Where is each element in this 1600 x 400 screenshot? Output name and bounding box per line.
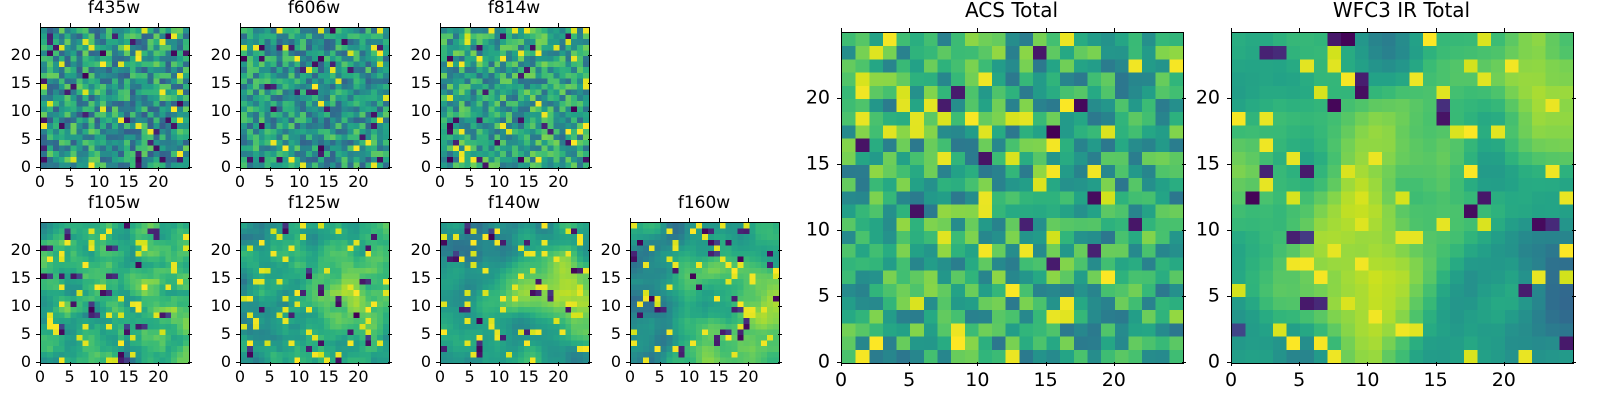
x-tick-top-wfc3-ir-total-10 [1367,28,1368,32]
x-tick-f606w-5 [270,167,271,171]
y-tick-right-f105w-5 [188,334,192,335]
y-tick-right-f125w-15 [388,278,392,279]
x-tick-f814w-15 [529,167,530,171]
x-ticklabel-f105w-20: 20 [148,369,168,385]
x-ticklabel-f814w-0: 0 [435,174,445,190]
x-tick-top-f160w-0 [630,218,631,222]
x-tick-top-wfc3-ir-total-15 [1436,28,1437,32]
panel-title-f606w: f606w [240,0,388,17]
x-tick-top-f105w-20 [158,218,159,222]
x-tick-f140w-0 [440,362,441,366]
x-tick-top-f105w-10 [99,218,100,222]
y-ticklabel-f435w-15: 15 [11,75,31,91]
x-ticklabel-f160w-5: 5 [655,369,665,385]
y-tick-right-f125w-0 [388,362,392,363]
x-tick-f606w-10 [299,167,300,171]
y-tick-f606w-10 [236,111,240,112]
x-ticklabel-f160w-15: 15 [709,369,729,385]
x-tick-f125w-10 [299,362,300,366]
y-tick-right-acs-total-15 [1182,164,1186,165]
y-tick-right-f814w-10 [588,111,592,112]
x-ticklabel-acs-total-20: 20 [1102,371,1126,390]
x-tick-top-wfc3-ir-total-20 [1504,28,1505,32]
y-tick-right-f435w-10 [188,111,192,112]
x-tick-f160w-5 [660,362,661,366]
y-tick-right-f814w-20 [588,55,592,56]
y-tick-f160w-15 [626,278,630,279]
x-ticklabel-f140w-5: 5 [465,369,475,385]
y-ticklabel-wfc3-ir-total-5: 5 [1208,287,1220,306]
x-tick-wfc3-ir-total-20 [1504,362,1505,366]
x-tick-f125w-15 [329,362,330,366]
y-tick-f125w-10 [236,306,240,307]
heatmap-image-f125w [241,223,389,363]
y-tick-right-wfc3-ir-total-0 [1572,362,1576,363]
x-tick-f606w-0 [240,167,241,171]
y-tick-right-f125w-20 [388,250,392,251]
x-ticklabel-f160w-20: 20 [738,369,758,385]
y-tick-f160w-20 [626,250,630,251]
panel-f125w: f125w0510152005101520 [240,195,388,400]
y-tick-f435w-20 [36,55,40,56]
y-tick-right-f160w-15 [778,278,782,279]
x-tick-top-f105w-5 [70,218,71,222]
y-ticklabel-f140w-20: 20 [411,242,431,258]
panel-f160w: f160w0510152005101520 [630,195,778,400]
x-tick-top-f125w-20 [358,218,359,222]
x-tick-f435w-0 [40,167,41,171]
heatmap-image-f435w [41,28,189,168]
y-tick-f125w-15 [236,278,240,279]
y-ticklabel-f435w-20: 20 [11,47,31,63]
y-tick-f140w-10 [436,306,440,307]
y-tick-f125w-5 [236,334,240,335]
x-tick-f160w-15 [719,362,720,366]
y-tick-f435w-5 [36,139,40,140]
y-tick-acs-total-10 [837,230,841,231]
y-ticklabel-f160w-5: 5 [611,326,621,342]
x-ticklabel-f125w-20: 20 [348,369,368,385]
y-tick-wfc3-ir-total-0 [1227,362,1231,363]
x-ticklabel-f140w-0: 0 [435,369,445,385]
panel-f606w: f606w0510152005101520 [240,0,388,205]
y-tick-right-f105w-20 [188,250,192,251]
x-tick-top-f105w-15 [129,218,130,222]
figure-canvas: f435w0510152005101520f606w05101520051015… [0,0,1600,400]
x-tick-f435w-20 [158,167,159,171]
y-tick-f105w-20 [36,250,40,251]
x-ticklabel-wfc3-ir-total-15: 15 [1424,371,1448,390]
x-tick-top-f160w-20 [748,218,749,222]
x-tick-f105w-10 [99,362,100,366]
y-tick-f435w-10 [36,111,40,112]
x-ticklabel-f814w-5: 5 [465,174,475,190]
y-ticklabel-wfc3-ir-total-0: 0 [1208,353,1220,372]
heatmap-axes-f814w [440,27,590,169]
y-ticklabel-f105w-20: 20 [11,242,31,258]
heatmap-image-f606w [241,28,389,168]
y-ticklabel-acs-total-20: 20 [806,89,830,108]
x-ticklabel-acs-total-10: 10 [965,371,989,390]
y-tick-f105w-15 [36,278,40,279]
y-ticklabel-f606w-5: 5 [221,131,231,147]
x-tick-top-acs-total-15 [1046,28,1047,32]
x-tick-f160w-10 [689,362,690,366]
y-tick-right-f435w-0 [188,167,192,168]
y-tick-acs-total-15 [837,164,841,165]
x-tick-f125w-5 [270,362,271,366]
x-tick-top-wfc3-ir-total-5 [1299,28,1300,32]
x-ticklabel-wfc3-ir-total-20: 20 [1492,371,1516,390]
heatmap-axes-f125w [240,222,390,364]
x-tick-top-f125w-5 [270,218,271,222]
x-ticklabel-f435w-0: 0 [35,174,45,190]
x-tick-top-f125w-0 [240,218,241,222]
y-ticklabel-f814w-20: 20 [411,47,431,63]
y-tick-f140w-15 [436,278,440,279]
y-tick-acs-total-20 [837,98,841,99]
heatmap-image-wfc3-ir-total [1232,33,1573,363]
panel-title-acs-total: ACS Total [841,0,1182,20]
y-ticklabel-f125w-5: 5 [221,326,231,342]
x-ticklabel-f606w-20: 20 [348,174,368,190]
x-tick-top-f125w-15 [329,218,330,222]
x-tick-f814w-10 [499,167,500,171]
x-ticklabel-wfc3-ir-total-10: 10 [1355,371,1379,390]
panel-title-wfc3-ir-total: WFC3 IR Total [1231,0,1572,20]
x-tick-f160w-20 [748,362,749,366]
y-tick-acs-total-5 [837,296,841,297]
x-tick-f606w-20 [358,167,359,171]
x-tick-f435w-10 [99,167,100,171]
y-ticklabel-f105w-15: 15 [11,270,31,286]
y-tick-f814w-10 [436,111,440,112]
x-tick-top-acs-total-5 [909,28,910,32]
x-tick-top-f814w-0 [440,23,441,27]
x-ticklabel-f105w-15: 15 [119,369,139,385]
y-tick-f125w-20 [236,250,240,251]
x-ticklabel-f140w-20: 20 [548,369,568,385]
x-tick-top-f606w-0 [240,23,241,27]
y-tick-right-f606w-10 [388,111,392,112]
x-ticklabel-f125w-5: 5 [265,369,275,385]
y-ticklabel-f606w-20: 20 [211,47,231,63]
x-tick-acs-total-15 [1046,362,1047,366]
x-tick-f160w-0 [630,362,631,366]
y-ticklabel-f125w-0: 0 [221,354,231,370]
y-ticklabel-f140w-15: 15 [411,270,431,286]
x-ticklabel-f814w-20: 20 [548,174,568,190]
y-tick-wfc3-ir-total-15 [1227,164,1231,165]
y-tick-right-f140w-10 [588,306,592,307]
x-tick-f435w-5 [70,167,71,171]
x-tick-top-f160w-10 [689,218,690,222]
heatmap-image-f140w [441,223,589,363]
panel-f105w: f105w0510152005101520 [40,195,188,400]
x-tick-top-f125w-10 [299,218,300,222]
y-ticklabel-acs-total-0: 0 [818,353,830,372]
x-ticklabel-acs-total-5: 5 [903,371,915,390]
x-tick-top-f140w-5 [470,218,471,222]
y-ticklabel-f435w-0: 0 [21,159,31,175]
x-tick-wfc3-ir-total-15 [1436,362,1437,366]
y-tick-right-wfc3-ir-total-15 [1572,164,1576,165]
y-ticklabel-acs-total-10: 10 [806,221,830,240]
panel-f435w: f435w0510152005101520 [40,0,188,205]
y-ticklabel-wfc3-ir-total-10: 10 [1196,221,1220,240]
x-tick-f435w-15 [129,167,130,171]
x-tick-f140w-10 [499,362,500,366]
y-tick-right-acs-total-0 [1182,362,1186,363]
y-ticklabel-f160w-15: 15 [601,270,621,286]
x-tick-top-f814w-5 [470,23,471,27]
x-ticklabel-f105w-5: 5 [65,369,75,385]
y-ticklabel-f606w-15: 15 [211,75,231,91]
x-tick-top-f160w-15 [719,218,720,222]
y-tick-wfc3-ir-total-20 [1227,98,1231,99]
x-ticklabel-f814w-15: 15 [519,174,539,190]
x-ticklabel-f606w-5: 5 [265,174,275,190]
y-tick-right-f435w-15 [188,83,192,84]
y-tick-right-f140w-15 [588,278,592,279]
x-tick-top-f606w-10 [299,23,300,27]
y-tick-right-f105w-10 [188,306,192,307]
y-ticklabel-f140w-0: 0 [421,354,431,370]
y-tick-right-f814w-5 [588,139,592,140]
panel-f814w: f814w0510152005101520 [440,0,588,205]
x-tick-f125w-0 [240,362,241,366]
y-tick-right-f435w-5 [188,139,192,140]
y-ticklabel-f606w-0: 0 [221,159,231,175]
x-ticklabel-f435w-10: 10 [89,174,109,190]
y-tick-right-f160w-5 [778,334,782,335]
x-tick-acs-total-10 [977,362,978,366]
x-tick-acs-total-20 [1114,362,1115,366]
x-tick-f105w-15 [129,362,130,366]
heatmap-axes-f160w [630,222,780,364]
y-ticklabel-f160w-20: 20 [601,242,621,258]
y-tick-right-f105w-15 [188,278,192,279]
panel-title-f105w: f105w [40,195,188,212]
x-tick-wfc3-ir-total-0 [1231,362,1232,366]
x-tick-top-f105w-0 [40,218,41,222]
x-ticklabel-f140w-15: 15 [519,369,539,385]
y-tick-wfc3-ir-total-10 [1227,230,1231,231]
x-ticklabel-f435w-5: 5 [65,174,75,190]
y-tick-f140w-5 [436,334,440,335]
panel-wfc3-ir-total: WFC3 IR Total0510152005101520 [1231,0,1572,400]
y-tick-f435w-15 [36,83,40,84]
y-tick-f606w-5 [236,139,240,140]
y-tick-f814w-0 [436,167,440,168]
x-ticklabel-acs-total-0: 0 [835,371,847,390]
x-tick-top-f814w-15 [529,23,530,27]
x-tick-top-f140w-20 [558,218,559,222]
y-ticklabel-f125w-20: 20 [211,242,231,258]
heatmap-axes-acs-total [841,32,1184,364]
y-ticklabel-f140w-10: 10 [411,298,431,314]
panel-f140w: f140w0510152005101520 [440,195,588,400]
y-ticklabel-wfc3-ir-total-15: 15 [1196,155,1220,174]
x-tick-f125w-20 [358,362,359,366]
x-tick-f606w-15 [329,167,330,171]
y-tick-right-f606w-0 [388,167,392,168]
x-ticklabel-wfc3-ir-total-0: 0 [1225,371,1237,390]
x-ticklabel-f606w-0: 0 [235,174,245,190]
y-tick-right-f125w-10 [388,306,392,307]
y-tick-wfc3-ir-total-5 [1227,296,1231,297]
y-ticklabel-f814w-5: 5 [421,131,431,147]
x-tick-top-f606w-15 [329,23,330,27]
y-tick-right-wfc3-ir-total-10 [1572,230,1576,231]
heatmap-image-f814w [441,28,589,168]
y-tick-right-f160w-20 [778,250,782,251]
x-tick-f814w-20 [558,167,559,171]
x-tick-acs-total-0 [841,362,842,366]
y-ticklabel-acs-total-5: 5 [818,287,830,306]
y-tick-right-acs-total-5 [1182,296,1186,297]
x-tick-f814w-5 [470,167,471,171]
y-tick-f606w-20 [236,55,240,56]
y-ticklabel-acs-total-15: 15 [806,155,830,174]
x-tick-top-f140w-0 [440,218,441,222]
y-ticklabel-wfc3-ir-total-20: 20 [1196,89,1220,108]
y-tick-f105w-5 [36,334,40,335]
x-tick-top-f435w-20 [158,23,159,27]
y-tick-f140w-0 [436,362,440,363]
x-tick-f140w-5 [470,362,471,366]
y-tick-right-wfc3-ir-total-5 [1572,296,1576,297]
y-tick-f814w-5 [436,139,440,140]
y-tick-f125w-0 [236,362,240,363]
x-ticklabel-f125w-0: 0 [235,369,245,385]
panel-title-f140w: f140w [440,195,588,212]
x-tick-top-f435w-10 [99,23,100,27]
x-tick-top-acs-total-20 [1114,28,1115,32]
x-tick-top-acs-total-10 [977,28,978,32]
y-tick-right-f435w-20 [188,55,192,56]
y-ticklabel-f606w-10: 10 [211,103,231,119]
x-tick-wfc3-ir-total-5 [1299,362,1300,366]
x-ticklabel-f105w-10: 10 [89,369,109,385]
y-tick-f606w-15 [236,83,240,84]
heatmap-axes-wfc3-ir-total [1231,32,1574,364]
x-tick-top-f606w-5 [270,23,271,27]
y-tick-right-f125w-5 [388,334,392,335]
x-ticklabel-acs-total-15: 15 [1034,371,1058,390]
y-ticklabel-f435w-10: 10 [11,103,31,119]
x-ticklabel-wfc3-ir-total-5: 5 [1293,371,1305,390]
y-tick-f435w-0 [36,167,40,168]
panel-title-f814w: f814w [440,0,588,17]
x-ticklabel-f435w-15: 15 [119,174,139,190]
x-tick-top-f606w-20 [358,23,359,27]
x-tick-top-f435w-5 [70,23,71,27]
y-ticklabel-f140w-5: 5 [421,326,431,342]
x-tick-top-f160w-5 [660,218,661,222]
y-tick-acs-total-0 [837,362,841,363]
y-tick-right-f160w-10 [778,306,782,307]
x-ticklabel-f125w-15: 15 [319,369,339,385]
x-tick-f105w-5 [70,362,71,366]
y-tick-right-f814w-15 [588,83,592,84]
x-tick-f140w-20 [558,362,559,366]
panel-title-f125w: f125w [240,195,388,212]
x-tick-f105w-20 [158,362,159,366]
x-ticklabel-f140w-10: 10 [489,369,509,385]
x-tick-top-wfc3-ir-total-0 [1231,28,1232,32]
x-tick-wfc3-ir-total-10 [1367,362,1368,366]
heatmap-image-f105w [41,223,189,363]
heatmap-axes-f606w [240,27,390,169]
y-tick-right-acs-total-20 [1182,98,1186,99]
y-tick-right-acs-total-10 [1182,230,1186,231]
y-tick-right-f606w-20 [388,55,392,56]
x-ticklabel-f606w-15: 15 [319,174,339,190]
y-ticklabel-f105w-10: 10 [11,298,31,314]
y-tick-right-wfc3-ir-total-20 [1572,98,1576,99]
y-ticklabel-f814w-15: 15 [411,75,431,91]
x-ticklabel-f160w-0: 0 [625,369,635,385]
x-tick-top-f140w-15 [529,218,530,222]
heatmap-axes-f105w [40,222,190,364]
y-ticklabel-f435w-5: 5 [21,131,31,147]
y-ticklabel-f814w-0: 0 [421,159,431,175]
y-tick-f814w-15 [436,83,440,84]
x-tick-top-f435w-0 [40,23,41,27]
x-tick-acs-total-5 [909,362,910,366]
x-ticklabel-f606w-10: 10 [289,174,309,190]
x-tick-top-acs-total-0 [841,28,842,32]
y-tick-f160w-10 [626,306,630,307]
y-tick-f814w-20 [436,55,440,56]
x-tick-f140w-15 [529,362,530,366]
panel-acs-total: ACS Total0510152005101520 [841,0,1182,400]
y-tick-f160w-5 [626,334,630,335]
heatmap-axes-f435w [40,27,190,169]
y-ticklabel-f814w-10: 10 [411,103,431,119]
x-tick-top-f814w-10 [499,23,500,27]
y-tick-right-f606w-15 [388,83,392,84]
y-ticklabel-f125w-15: 15 [211,270,231,286]
y-ticklabel-f125w-10: 10 [211,298,231,314]
y-ticklabel-f160w-0: 0 [611,354,621,370]
panel-title-f435w: f435w [40,0,188,17]
y-tick-right-f814w-0 [588,167,592,168]
y-ticklabel-f105w-5: 5 [21,326,31,342]
x-tick-top-f435w-15 [129,23,130,27]
y-tick-f160w-0 [626,362,630,363]
heatmap-axes-f140w [440,222,590,364]
y-tick-f105w-0 [36,362,40,363]
x-ticklabel-f105w-0: 0 [35,369,45,385]
y-tick-right-f105w-0 [188,362,192,363]
y-tick-right-f606w-5 [388,139,392,140]
x-ticklabel-f814w-10: 10 [489,174,509,190]
x-ticklabel-f160w-10: 10 [679,369,699,385]
heatmap-image-f160w [631,223,779,363]
y-tick-f606w-0 [236,167,240,168]
panel-title-f160w: f160w [630,195,778,212]
y-tick-f105w-10 [36,306,40,307]
x-ticklabel-f125w-10: 10 [289,369,309,385]
heatmap-image-acs-total [842,33,1183,363]
y-tick-right-f140w-0 [588,362,592,363]
x-tick-f814w-0 [440,167,441,171]
y-ticklabel-f105w-0: 0 [21,354,31,370]
y-ticklabel-f160w-10: 10 [601,298,621,314]
x-tick-top-f140w-10 [499,218,500,222]
